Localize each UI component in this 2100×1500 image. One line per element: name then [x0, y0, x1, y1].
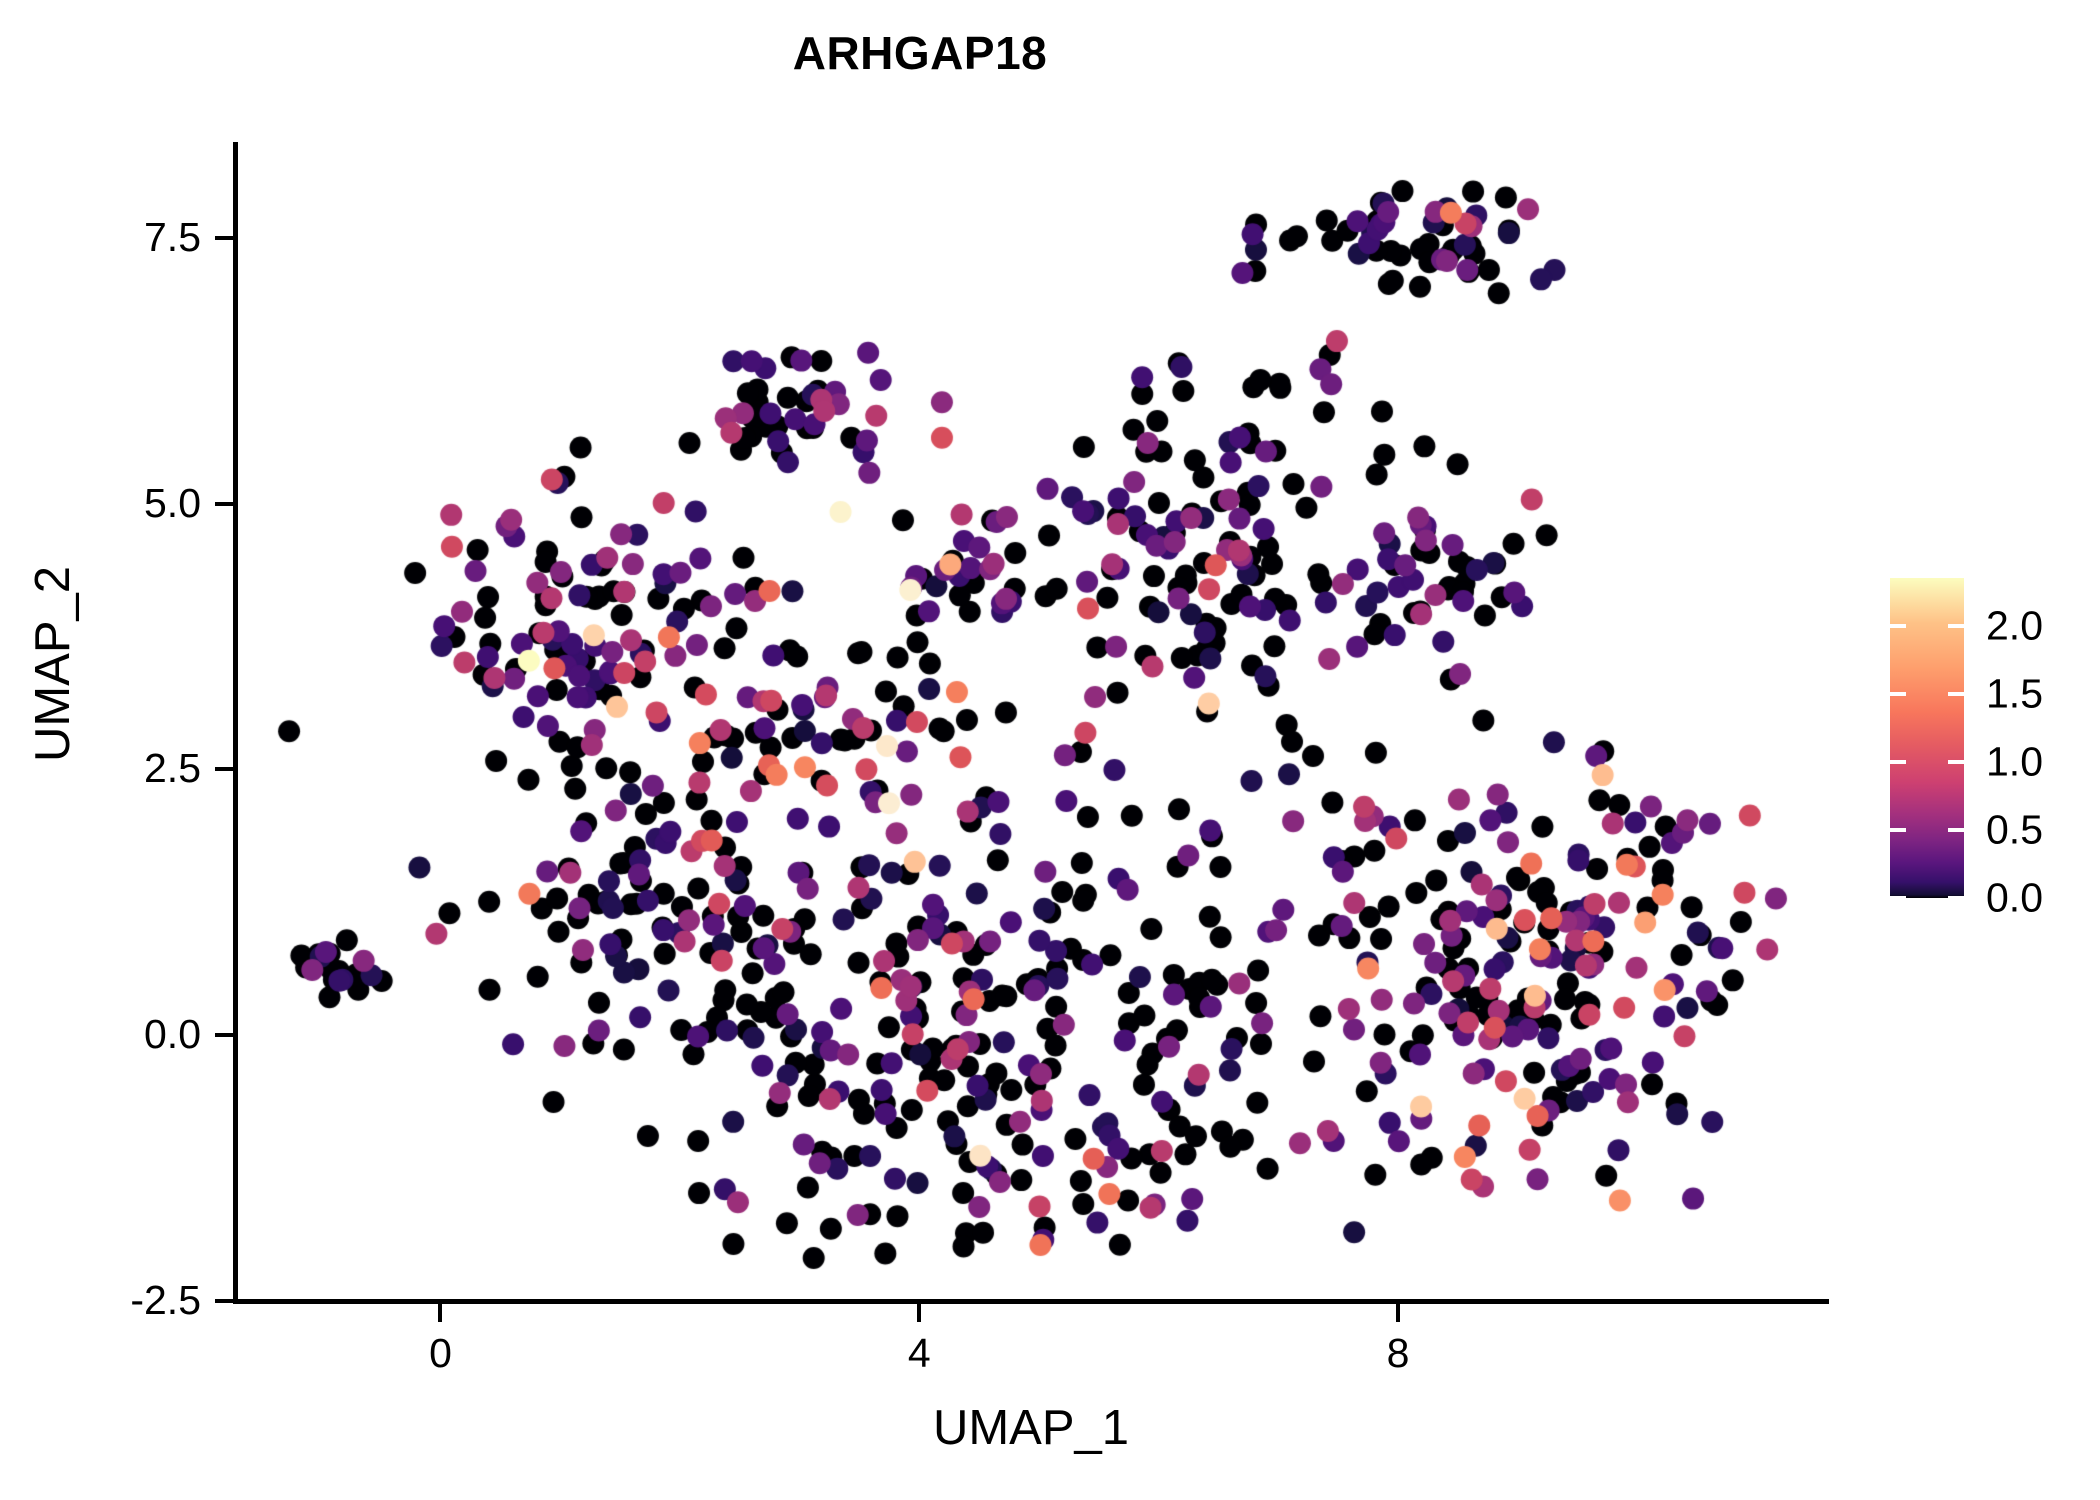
y-tick-mark--2.5	[215, 1299, 233, 1303]
legend-tick-right	[1948, 760, 1964, 764]
legend-tick-left	[1890, 896, 1906, 900]
legend-tick-right	[1948, 896, 1964, 900]
x-tick-label: 0	[380, 1330, 500, 1377]
legend-tick-left	[1890, 624, 1906, 628]
x-tick-mark-4	[917, 1304, 921, 1322]
legend-label: 1.5	[1986, 670, 2043, 717]
legend-tick-right	[1948, 624, 1964, 628]
legend-tick-left	[1890, 692, 1906, 696]
x-tick-mark-8	[1396, 1304, 1400, 1322]
y-axis-title: UMAP_2	[25, 429, 81, 899]
y-tick-label: 0.0	[21, 1011, 201, 1058]
x-tick-mark-0	[438, 1304, 442, 1322]
y-tick-mark-0.0	[215, 1033, 233, 1037]
legend-label: 0.0	[1986, 875, 2043, 922]
y-tick-mark-7.5	[215, 236, 233, 240]
y-tick-label: 7.5	[21, 214, 201, 261]
legend-tick-left	[1890, 760, 1906, 764]
umap-feature-plot: ARHGAP18 7.5 5.0 2.5 0.0 -2.5 0 4 8 UMAP…	[0, 0, 2100, 1500]
plot-panel	[237, 142, 1829, 1301]
legend-label: 2.0	[1986, 602, 2043, 649]
legend-tick-right	[1948, 692, 1964, 696]
scatter-plot-canvas	[237, 142, 1829, 1301]
x-axis-title: UMAP_1	[233, 1400, 1829, 1456]
legend-tick-left	[1890, 828, 1906, 832]
legend-label: 1.0	[1986, 738, 2043, 785]
x-axis-line	[233, 1299, 1829, 1304]
y-tick-label: -2.5	[21, 1277, 201, 1324]
x-tick-label: 8	[1338, 1330, 1458, 1377]
y-tick-mark-5.0	[215, 502, 233, 506]
y-tick-mark-2.5	[215, 767, 233, 771]
legend-label: 0.5	[1986, 806, 2043, 853]
color-legend: 2.0 1.5 1.0 0.5 0.0	[1890, 578, 2080, 908]
x-tick-label: 4	[859, 1330, 979, 1377]
legend-tick-right	[1948, 828, 1964, 832]
page-title: ARHGAP18	[0, 26, 1840, 80]
y-axis-line	[233, 142, 238, 1304]
